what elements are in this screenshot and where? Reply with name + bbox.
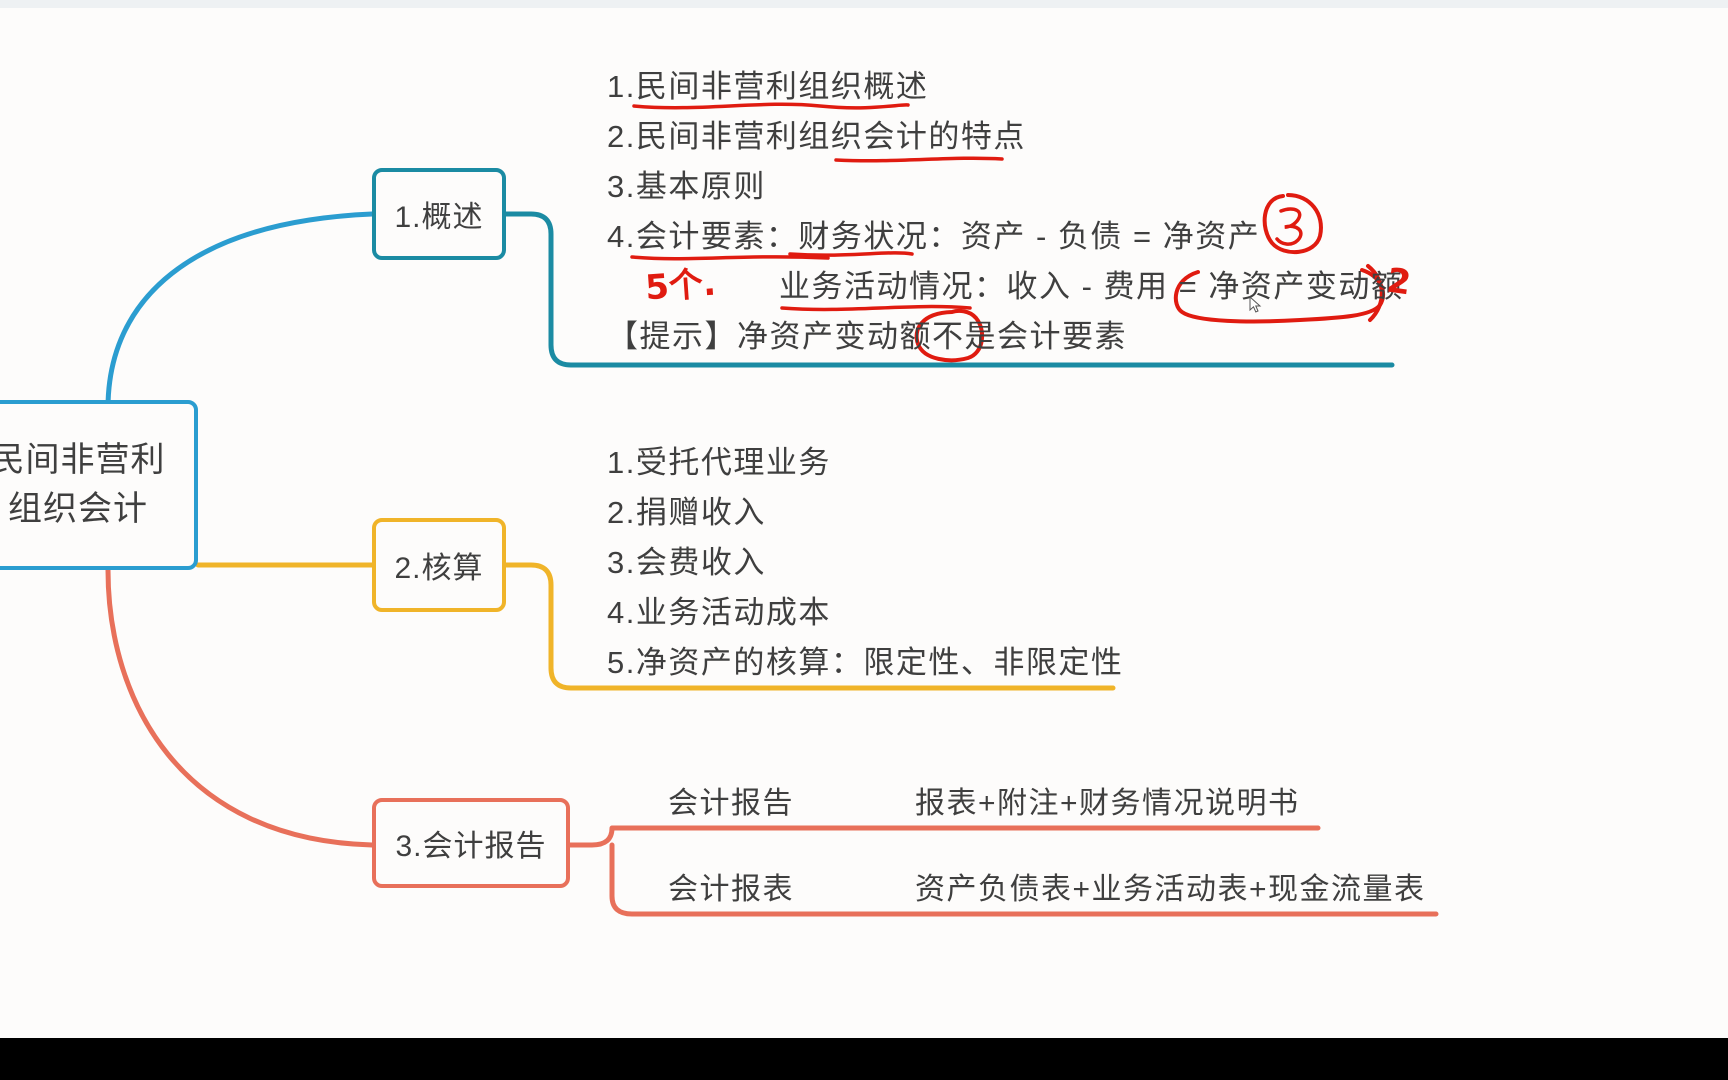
mouse-cursor <box>1249 296 1263 314</box>
branch-node-1[interactable]: 1.概述 <box>372 168 506 260</box>
letterbox-bottom-bar <box>0 1038 1728 1080</box>
root-node-line1: 民间非营利 <box>0 436 166 485</box>
root-node[interactable]: 民间非营利 组织会计 <box>0 400 198 570</box>
ink-count-5-annotation: 5个. <box>643 256 717 310</box>
branch-2-line-4: 4.业务活动成本 <box>607 588 1123 638</box>
branch-3-row-1-value: 报表+附注+财务情况说明书 <box>915 778 1300 822</box>
branch-2-line-2: 2.捐赠收入 <box>607 488 1123 538</box>
branch-1-line-3: 3.基本原则 <box>607 162 1403 212</box>
branch-3-row-2-value: 资产负债表+业务活动表+现金流量表 <box>915 864 1426 908</box>
branch-1-line-4: 4.会计要素：财务状况：资产 - 负债 = 净资产 <box>607 212 1403 262</box>
branch-node-3[interactable]: 3.会计报告 <box>372 798 570 888</box>
branch-1-detail-text: 1.民间非营利组织概述 2.民间非营利组织会计的特点 3.基本原则 4.会计要素… <box>607 62 1403 362</box>
branch-1-line-2: 2.民间非营利组织会计的特点 <box>607 112 1403 162</box>
branch-2-line-5: 5.净资产的核算：限定性、非限定性 <box>607 638 1123 688</box>
branch-1-line-6: 【提示】净资产变动额不是会计要素 <box>607 312 1403 362</box>
root-node-line2: 组织会计 <box>8 485 148 534</box>
branch-3-row-2-label: 会计报表 <box>668 864 794 908</box>
branch-2-detail-text: 1.受托代理业务 2.捐赠收入 3.会费收入 4.业务活动成本 5.净资产的核算… <box>607 438 1123 688</box>
branch-node-2[interactable]: 2.核算 <box>372 518 506 612</box>
branch-2-line-3: 3.会费收入 <box>607 538 1123 588</box>
branch-1-line-1: 1.民间非营利组织概述 <box>607 62 1403 112</box>
branch-2-line-1: 1.受托代理业务 <box>607 438 1123 488</box>
branch-1-line-5: 业务活动情况：收入 - 费用 = 净资产变动额 <box>607 262 1403 312</box>
branch-3-row-1-label: 会计报告 <box>668 778 794 822</box>
